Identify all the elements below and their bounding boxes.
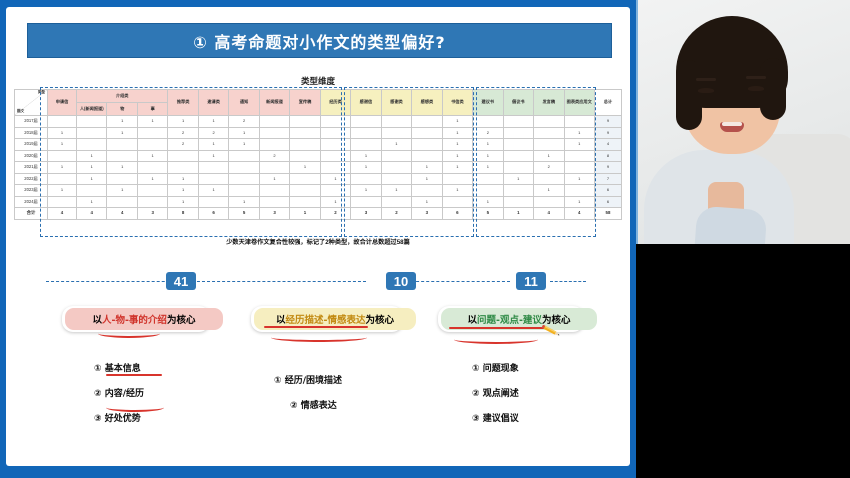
- table-cell: 3: [259, 208, 289, 220]
- table-cell: [534, 139, 564, 151]
- table-cell: [77, 116, 107, 128]
- table-cell: 1: [107, 116, 137, 128]
- concept-suggestion-highlight: 问题-观点-建议: [477, 312, 542, 326]
- table-cell: 8: [168, 208, 198, 220]
- table-cell: 1: [564, 139, 595, 151]
- row-label: 2024届: [15, 196, 48, 208]
- table-cell: 1: [564, 173, 595, 185]
- col-header-10: 感谢信: [351, 90, 381, 116]
- table-cell: [381, 127, 411, 139]
- table-cell: [381, 196, 411, 208]
- table-cell: [534, 127, 564, 139]
- table-dimension-title: 类型维度: [14, 75, 622, 87]
- table-corner-cell: 类型 题文: [15, 90, 48, 116]
- table-row: 2020届111211118: [15, 150, 622, 162]
- table-row: 2022届111111117: [15, 173, 622, 185]
- eye-right: [748, 86, 764, 91]
- col-header-11: 感谢类: [381, 90, 411, 116]
- table-row: 2021届1111111129: [15, 162, 622, 174]
- presenter-collar: [695, 206, 768, 244]
- pencil-icon: [540, 325, 562, 337]
- table-cell: [320, 127, 350, 139]
- table-cell: 8: [595, 150, 622, 162]
- row-label: 2021届: [15, 162, 48, 174]
- table-cell: [442, 173, 472, 185]
- table-cell: 1: [137, 116, 167, 128]
- table-cell: 1: [107, 127, 137, 139]
- table-cell: [229, 150, 259, 162]
- list-item-suggestion-0: ① 问题现象: [472, 361, 519, 374]
- col-header-7: 新闻报道: [259, 90, 289, 116]
- table-cell: [473, 185, 503, 197]
- table-cell: 4: [534, 208, 564, 220]
- table-cell: [107, 150, 137, 162]
- table-cell: [259, 116, 289, 128]
- col-header-18: 总计: [595, 90, 622, 116]
- table-cell: [198, 173, 228, 185]
- table-cell: [137, 139, 167, 151]
- table-cell: [412, 139, 442, 151]
- table-cell: [473, 116, 503, 128]
- underline-suggestion: [449, 327, 545, 329]
- table-footnote: 少数天津卷作文复合性较强，标记了2种类型，故合计总数超过58篇: [14, 237, 622, 246]
- table-cell: 1: [534, 185, 564, 197]
- table-cell: 9: [595, 127, 622, 139]
- table-cell: 1: [442, 185, 472, 197]
- col-header-12: 感想类: [412, 90, 442, 116]
- table-body: 2017届11112192018届1122112192019届121111114…: [15, 116, 622, 220]
- table-cell: [381, 116, 411, 128]
- table-cell: 6: [595, 196, 622, 208]
- list-item-intro-2: ③ 好处优势: [94, 411, 144, 424]
- col-group-intro: 介绍类: [77, 90, 168, 103]
- table-cell: 9: [595, 162, 622, 174]
- concept-experience-suffix: 为核心: [365, 312, 394, 326]
- table-cell: [198, 196, 228, 208]
- table-cell: [320, 185, 350, 197]
- table-cell: [412, 116, 442, 128]
- underline-intro-item0: [106, 374, 162, 376]
- table-cell: 1: [168, 116, 198, 128]
- black-filler-panel: [636, 244, 850, 478]
- table-cell: 1: [320, 196, 350, 208]
- table-cell: 1: [48, 127, 77, 139]
- table-cell: [48, 196, 77, 208]
- col-header-0: 申请信: [48, 90, 77, 116]
- list-item-suggestion-1: ② 观点阐述: [472, 386, 519, 399]
- slide-frame: ① 高考命题对小作文的类型偏好? 类型维度 类型 题文 申请信 介绍类: [0, 0, 636, 478]
- table-cell: 1: [137, 173, 167, 185]
- table-cell: 1: [564, 196, 595, 208]
- list-item-experience-0: ① 经历/困境描述: [274, 373, 342, 386]
- table-cell: [168, 150, 198, 162]
- table-cell: 4: [77, 208, 107, 220]
- table-cell: 5: [473, 208, 503, 220]
- row-label: 2023届: [15, 185, 48, 197]
- table-cell: 1: [381, 139, 411, 151]
- table-cell: 1: [198, 150, 228, 162]
- table-cell: 2: [168, 139, 198, 151]
- table-cell: [77, 127, 107, 139]
- table-cell: 1: [48, 139, 77, 151]
- table-cell: [320, 162, 350, 174]
- table-cell: 1: [381, 185, 411, 197]
- slide-canvas: ① 高考命题对小作文的类型偏好? 类型维度 类型 题文 申请信 介绍类: [6, 7, 630, 466]
- table-cell: 1: [107, 162, 137, 174]
- table-cell: 2: [381, 208, 411, 220]
- table-cell: [442, 196, 472, 208]
- table-cell: [137, 185, 167, 197]
- table-cell: [107, 173, 137, 185]
- table-cell: 3: [137, 208, 167, 220]
- arc-intro-item2: [106, 403, 164, 412]
- table-cell: 1: [320, 173, 350, 185]
- table-cell: 1: [564, 127, 595, 139]
- table-cell: 1: [229, 127, 259, 139]
- badge-connector-right: [550, 281, 586, 282]
- table-cell: [259, 185, 289, 197]
- list-item-suggestion-2: ③ 建议倡议: [472, 411, 519, 424]
- table-cell: 1: [77, 173, 107, 185]
- col-header-8: 宣传稿: [290, 90, 320, 116]
- table-cell: [351, 116, 381, 128]
- table-cell: [290, 139, 320, 151]
- table-total-row: 合计44438653123236514458: [15, 208, 622, 220]
- table-cell: [351, 139, 381, 151]
- table-cell: 1: [77, 150, 107, 162]
- table-cell: [412, 150, 442, 162]
- table-cell: [412, 127, 442, 139]
- table-cell: [381, 173, 411, 185]
- table-cell: 1: [259, 173, 289, 185]
- table-row: 2017届1111219: [15, 116, 622, 128]
- table-cell: [290, 185, 320, 197]
- badge-count-experience: 10: [386, 272, 416, 290]
- table-row: 2023届111111116: [15, 185, 622, 197]
- table-cell: [412, 185, 442, 197]
- table-cell: 1: [351, 185, 381, 197]
- col-header-1: 人(新闻报道): [77, 103, 107, 116]
- table-cell: [503, 162, 533, 174]
- concept-list-experience: ① 经历/困境描述 ② 情感表达: [274, 373, 342, 423]
- table-cell: 1: [473, 196, 503, 208]
- table-header-row-1: 类型 题文 申请信 介绍类 推荐类 邀请类 通知 新闻报道 宣传稿 经历类 感谢…: [15, 90, 622, 103]
- table-cell: 1: [442, 127, 472, 139]
- col-header-9: 经历类: [320, 90, 350, 116]
- table-cell: [290, 116, 320, 128]
- table-cell: 1: [168, 185, 198, 197]
- table-cell: 1: [290, 162, 320, 174]
- col-header-5: 邀请类: [198, 90, 228, 116]
- table-cell: 2: [320, 208, 350, 220]
- table-cell: [351, 196, 381, 208]
- badge-connector-left: [46, 281, 366, 282]
- table-cell: [351, 173, 381, 185]
- table-cell: 1: [412, 162, 442, 174]
- arc-experience: [271, 333, 367, 342]
- statistics-table: 类型 题文 申请信 介绍类 推荐类 邀请类 通知 新闻报道 宣传稿 经历类 感谢…: [14, 89, 622, 220]
- table-cell: [77, 139, 107, 151]
- table-cell: [534, 173, 564, 185]
- list-item-experience-1: ② 情感表达: [290, 398, 342, 411]
- table-cell: [564, 150, 595, 162]
- table-cell: 1: [229, 139, 259, 151]
- table-cell: 1: [442, 162, 472, 174]
- corner-bottom-label: 题文: [17, 110, 24, 114]
- table-cell: [564, 162, 595, 174]
- list-item-intro-0: ① 基本信息: [94, 361, 144, 374]
- concept-list-suggestion: ① 问题现象 ② 观点阐述 ③ 建议倡议: [472, 361, 519, 436]
- table-cell: 1: [77, 196, 107, 208]
- underline-experience: [264, 326, 368, 328]
- table-cell: [503, 185, 533, 197]
- table-cell: 1: [473, 150, 503, 162]
- col-header-16: 发言稿: [534, 90, 564, 116]
- table-cell: [381, 162, 411, 174]
- table-row: 2024届11111116: [15, 196, 622, 208]
- table-cell: [259, 127, 289, 139]
- table-cell: [137, 127, 167, 139]
- table-cell: [564, 116, 595, 128]
- table-cell: 6: [198, 208, 228, 220]
- table-cell: [320, 116, 350, 128]
- table-cell: [107, 196, 137, 208]
- concept-intro-prefix: 以: [93, 312, 103, 326]
- col-header-4: 推荐类: [168, 90, 198, 116]
- table-cell: [259, 162, 289, 174]
- table-cell: 4: [107, 208, 137, 220]
- table-cell: 6: [595, 185, 622, 197]
- table-cell: [48, 173, 77, 185]
- table-cell: [168, 162, 198, 174]
- table-cell: 1: [351, 150, 381, 162]
- presenter-webcam: [636, 0, 850, 244]
- table-cell: [473, 173, 503, 185]
- table-cell: 1: [503, 173, 533, 185]
- table-cell: 6: [442, 208, 472, 220]
- table-cell: 2: [198, 127, 228, 139]
- row-label: 2018届: [15, 127, 48, 139]
- table-cell: [534, 116, 564, 128]
- table-cell: [534, 196, 564, 208]
- table-cell: 1: [412, 173, 442, 185]
- concept-experience-highlight: 经历描述-情感表达: [286, 312, 366, 326]
- data-table-block: 类型维度 类型 题文 申请信 介绍类 推荐类 邀请类: [14, 75, 622, 255]
- col-header-6: 通知: [229, 90, 259, 116]
- concept-intro-suffix: 为核心: [167, 312, 196, 326]
- concept-box-intro: 以人-物-事的介绍为核心: [65, 308, 223, 330]
- table-cell: 3: [412, 208, 442, 220]
- col-header-14: 建议书: [473, 90, 503, 116]
- table-cell: [351, 127, 381, 139]
- row-label: 2022届: [15, 173, 48, 185]
- arc-suggestion: [454, 335, 538, 344]
- table-cell: [503, 150, 533, 162]
- table-cell: 1: [442, 139, 472, 151]
- row-label: 2017届: [15, 116, 48, 128]
- badge-count-intro: 41: [166, 272, 196, 290]
- table-cell: 58: [595, 208, 622, 220]
- page-title: ① 高考命题对小作文的类型偏好?: [193, 29, 445, 53]
- row-label: 2020届: [15, 150, 48, 162]
- table-cell: 7: [595, 173, 622, 185]
- concept-intro-highlight: 人-物-事的介绍: [102, 312, 167, 326]
- col-header-3: 事: [137, 103, 167, 116]
- table-cell: 5: [229, 208, 259, 220]
- table-cell: [259, 139, 289, 151]
- corner-top-label: 类型: [38, 91, 45, 95]
- table-cell: 4: [564, 208, 595, 220]
- brow-right: [746, 76, 766, 79]
- teeth: [722, 122, 742, 126]
- table-cell: [77, 185, 107, 197]
- table-cell: [290, 150, 320, 162]
- slide-title-bar: ① 高考命题对小作文的类型偏好?: [27, 23, 612, 58]
- brow-left: [696, 78, 716, 81]
- screen: ① 高考命题对小作文的类型偏好? 类型维度 类型 题文 申请信 介绍类: [0, 0, 850, 478]
- table-cell: 1: [473, 162, 503, 174]
- table-cell: 1: [77, 162, 107, 174]
- table-cell: [503, 127, 533, 139]
- table-cell: 1: [198, 185, 228, 197]
- col-header-17: 图表类应用文: [564, 90, 595, 116]
- table-cell: [320, 139, 350, 151]
- table-cell: [503, 116, 533, 128]
- table-cell: 9: [595, 116, 622, 128]
- table-cell: 1: [137, 150, 167, 162]
- row-label: 2019届: [15, 139, 48, 151]
- annotation-arc-intro: [98, 329, 160, 338]
- table-cell: [229, 185, 259, 197]
- table-cell: 1: [198, 116, 228, 128]
- concept-list-intro: ① 基本信息 ② 内容/经历 ③ 好处优势: [94, 361, 144, 436]
- presenter-hair-left: [676, 60, 702, 130]
- concept-suggestion-prefix: 以: [468, 312, 478, 326]
- col-header-15: 倡议书: [503, 90, 533, 116]
- table-cell: 3: [351, 208, 381, 220]
- table-cell: 1: [534, 150, 564, 162]
- table-cell: 4: [48, 208, 77, 220]
- badge-count-suggestion: 11: [516, 272, 546, 290]
- table-cell: [137, 196, 167, 208]
- table-cell: 1: [473, 139, 503, 151]
- col-header-2: 物: [107, 103, 137, 116]
- table-row: 2018届112211219: [15, 127, 622, 139]
- table-cell: [290, 196, 320, 208]
- table-cell: 2: [259, 150, 289, 162]
- table-cell: 1: [107, 185, 137, 197]
- table-cell: 2: [168, 127, 198, 139]
- concept-experience-prefix: 以: [276, 312, 286, 326]
- table-cell: 2: [534, 162, 564, 174]
- table-cell: [48, 116, 77, 128]
- row-label: 合计: [15, 208, 48, 220]
- concept-suggestion-suffix: 为核心: [542, 312, 571, 326]
- table-cell: [503, 139, 533, 151]
- table-cell: 2: [229, 116, 259, 128]
- table-cell: [564, 185, 595, 197]
- table-cell: [48, 150, 77, 162]
- webcam-left-border: [636, 0, 638, 244]
- table-cell: [198, 162, 228, 174]
- table-cell: 1: [351, 162, 381, 174]
- table-cell: [290, 127, 320, 139]
- badge-connector-mid: [406, 281, 510, 282]
- table-cell: [381, 150, 411, 162]
- eye-left: [698, 88, 714, 93]
- table-cell: [290, 173, 320, 185]
- table-cell: 1: [168, 196, 198, 208]
- table-cell: [229, 173, 259, 185]
- table-head: 类型 题文 申请信 介绍类 推荐类 邀请类 通知 新闻报道 宣传稿 经历类 感谢…: [15, 90, 622, 116]
- table-cell: [259, 196, 289, 208]
- table-cell: 1: [168, 173, 198, 185]
- col-header-13: 书信类: [442, 90, 472, 116]
- table-row: 2019届121111114: [15, 139, 622, 151]
- table-cell: 1: [442, 116, 472, 128]
- table-cell: 1: [442, 150, 472, 162]
- table-cell: 1: [48, 185, 77, 197]
- table-cell: 1: [290, 208, 320, 220]
- list-item-intro-1: ② 内容/经历: [94, 386, 144, 399]
- table-cell: 1: [412, 196, 442, 208]
- table-cell: [137, 162, 167, 174]
- table-cell: [320, 150, 350, 162]
- table-cell: 4: [595, 139, 622, 151]
- table-cell: [503, 196, 533, 208]
- table-cell: 1: [229, 196, 259, 208]
- table-cell: 1: [48, 162, 77, 174]
- table-cell: [107, 139, 137, 151]
- table-cell: 1: [503, 208, 533, 220]
- table-cell: [229, 162, 259, 174]
- table-cell: 1: [198, 139, 228, 151]
- table-cell: 2: [473, 127, 503, 139]
